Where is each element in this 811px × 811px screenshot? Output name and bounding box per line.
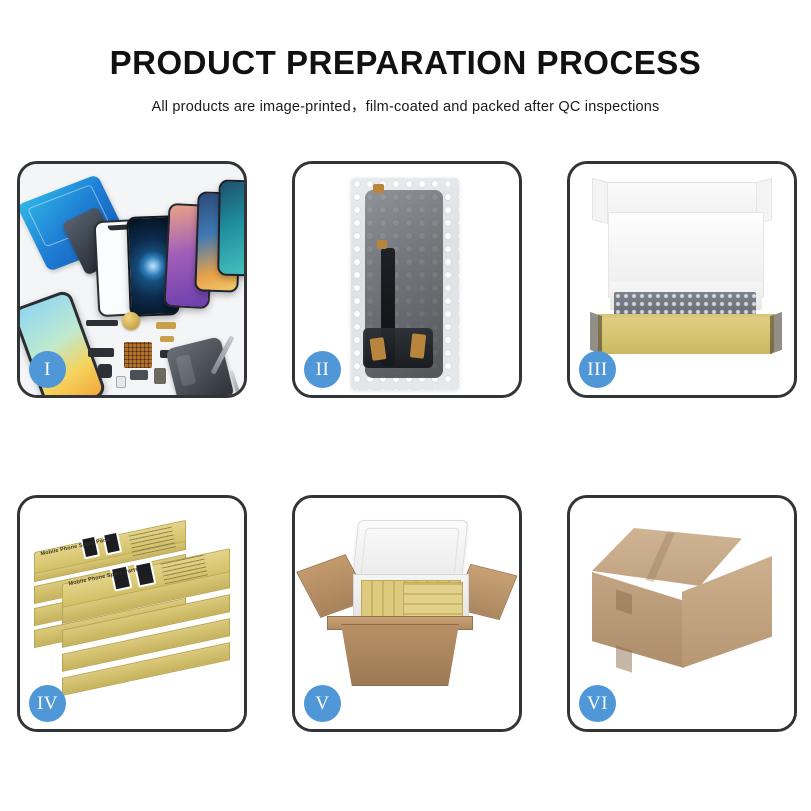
small-component-icon xyxy=(116,376,126,388)
process-steps-grid: I II xyxy=(17,161,797,732)
page-subtitle: All products are image-printed，film-coat… xyxy=(0,95,811,116)
tape-tab-2-icon xyxy=(377,240,387,249)
carton-left-face-icon xyxy=(592,572,684,668)
process-step-panel-6: VI xyxy=(567,495,797,732)
step-badge-1: I xyxy=(29,351,66,388)
process-step-panel-3: III xyxy=(567,161,797,398)
page-title: PRODUCT PREPARATION PROCESS xyxy=(0,44,811,82)
part-strip-6-icon xyxy=(98,364,112,378)
process-step-panel-5: V xyxy=(292,495,522,732)
part-strip-4-icon xyxy=(88,348,114,357)
step-badge-4: IV xyxy=(29,685,66,722)
gold-coil-part-icon xyxy=(122,312,140,330)
bubble-wrap-bag-icon xyxy=(351,178,459,390)
part-strip-7-icon xyxy=(130,370,148,380)
part-strip-3-icon xyxy=(160,336,174,342)
box-flap-left-icon xyxy=(592,178,608,224)
yellow-box-front-icon xyxy=(598,314,774,354)
step-badge-5: V xyxy=(304,685,341,722)
gold-connector-1-icon xyxy=(370,337,387,361)
tape-tab-1-icon xyxy=(373,184,384,193)
part-strip-2-icon xyxy=(156,322,176,329)
box-stack-icon: Mobile Phone Spare Parts Mobile Phone Sp… xyxy=(26,522,244,712)
carton-front-face-icon xyxy=(333,624,467,686)
process-step-panel-2: II xyxy=(292,161,522,398)
gold-connector-2-icon xyxy=(410,333,426,358)
header: PRODUCT PREPARATION PROCESS All products… xyxy=(0,0,811,116)
phone-teal-icon xyxy=(217,180,244,277)
product-preparation-infographic: PRODUCT PREPARATION PROCESS All products… xyxy=(0,0,811,811)
battery-part-icon xyxy=(154,368,166,384)
chip-grid-part-icon xyxy=(124,342,152,368)
carton-tape-patch-2-icon xyxy=(616,645,632,672)
part-strip-1-icon xyxy=(86,320,118,326)
step-badge-6: VI xyxy=(579,685,616,722)
process-step-panel-1: I xyxy=(17,161,247,398)
step-badge-3: III xyxy=(579,351,616,388)
process-step-panel-4: Mobile Phone Spare Parts Mobile Phone Sp… xyxy=(17,495,247,732)
step-badge-2: II xyxy=(304,351,341,388)
